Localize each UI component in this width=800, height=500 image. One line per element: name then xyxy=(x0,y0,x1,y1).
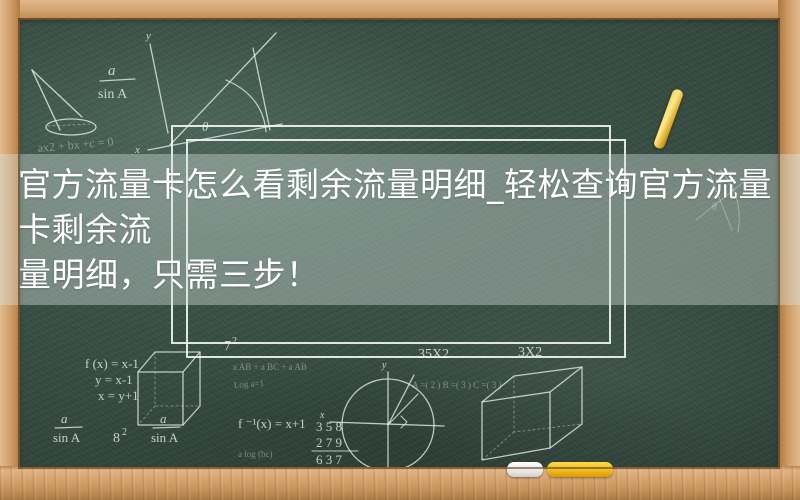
chalkboard-banner: a sin A y x θ ax2 + bx +c = 0 xyxy=(0,0,800,500)
tray-wood-grain xyxy=(0,466,800,500)
frame-top-rail xyxy=(0,0,800,20)
frame-bottom-tray xyxy=(0,466,800,500)
frame-inner-bevel xyxy=(18,18,780,469)
